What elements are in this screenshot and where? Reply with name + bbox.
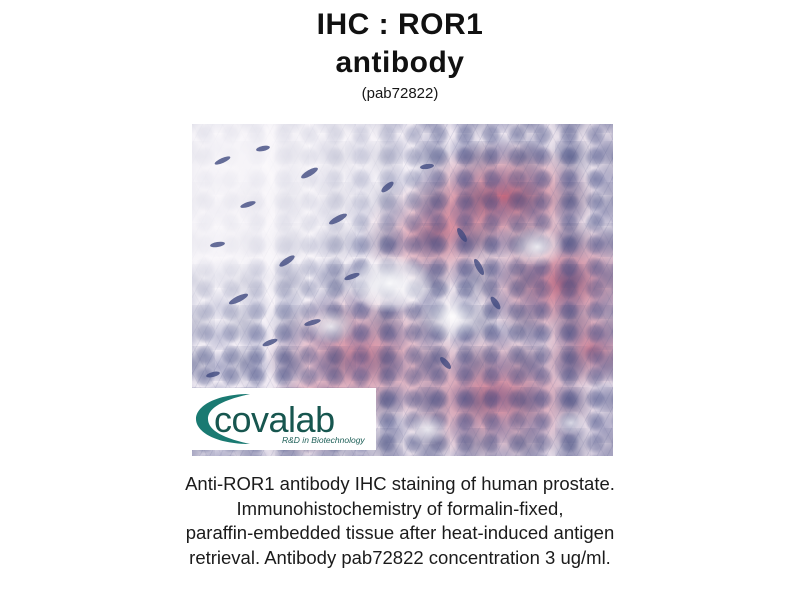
page-title: IHC : ROR1 bbox=[0, 6, 800, 44]
ihc-micrograph-image: covalab R&D in Biotechnology bbox=[192, 124, 613, 456]
caption-line: Anti-ROR1 antibody IHC staining of human… bbox=[0, 472, 800, 497]
figure-caption: Anti-ROR1 antibody IHC staining of human… bbox=[0, 472, 800, 570]
image-vignette bbox=[192, 124, 613, 456]
caption-line: Immunohistochemistry of formalin-fixed, bbox=[0, 497, 800, 522]
caption-line: paraffin-embedded tissue after heat-indu… bbox=[0, 521, 800, 546]
figure-header: IHC : ROR1 antibody (pab72822) bbox=[0, 0, 800, 104]
micrograph-figure: covalab R&D in Biotechnology bbox=[192, 124, 613, 456]
page-title-line2: antibody bbox=[0, 44, 800, 82]
caption-line: retrieval. Antibody pab72822 concentrati… bbox=[0, 546, 800, 571]
catalog-number: (pab72822) bbox=[0, 84, 800, 104]
